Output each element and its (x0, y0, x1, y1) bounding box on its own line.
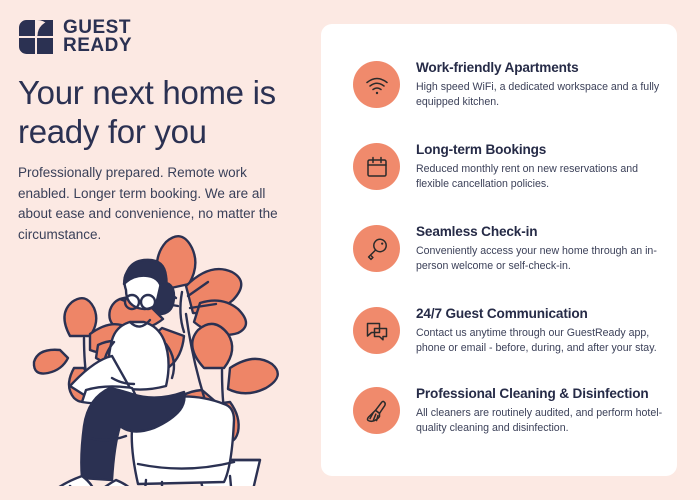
promo-page: GUEST READY Your next home is ready for … (0, 0, 700, 500)
brand-logo[interactable]: GUEST READY (18, 19, 132, 55)
hero-illustration (26, 218, 308, 486)
feature-title: Seamless Check-in (416, 224, 664, 240)
broom-icon (353, 387, 400, 434)
feature-title: Work-friendly Apartments (416, 60, 664, 76)
feature-description: High speed WiFi, a dedicated workspace a… (416, 80, 664, 110)
feature-text: Seamless Check-in Conveniently access yo… (416, 223, 664, 274)
feature-list: Work-friendly Apartments High speed WiFi… (321, 24, 677, 476)
page-title: Your next home is ready for you (18, 74, 308, 152)
features-card: Work-friendly Apartments High speed WiFi… (321, 24, 677, 476)
feature-title: Long-term Bookings (416, 142, 664, 158)
feature-description: Reduced monthly rent on new reservations… (416, 162, 664, 192)
left-panel: GUEST READY Your next home is ready for … (0, 0, 320, 500)
feature-text: 24/7 Guest Communication Contact us anyt… (416, 305, 664, 356)
feature-title: Professional Cleaning & Disinfection (416, 386, 664, 402)
feature-text: Professional Cleaning & Disinfection All… (416, 385, 664, 436)
feature-text: Long-term Bookings Reduced monthly rent … (416, 141, 664, 192)
feature-title: 24/7 Guest Communication (416, 306, 664, 322)
list-item[interactable]: Long-term Bookings Reduced monthly rent … (353, 141, 653, 192)
list-item[interactable]: 24/7 Guest Communication Contact us anyt… (353, 305, 653, 356)
wifi-icon (353, 61, 400, 108)
feature-description: Conveniently access your new home throug… (416, 244, 664, 274)
list-item[interactable]: Professional Cleaning & Disinfection All… (353, 385, 653, 436)
brand-wordmark: GUEST READY (63, 19, 132, 55)
calendar-icon (353, 143, 400, 190)
feature-description: Contact us anytime through our GuestRead… (416, 326, 664, 356)
key-icon (353, 225, 400, 272)
list-item[interactable]: Work-friendly Apartments High speed WiFi… (353, 59, 653, 110)
guestready-quadrant-logo (18, 19, 54, 55)
brand-line-2: READY (63, 37, 132, 55)
feature-description: All cleaners are routinely audited, and … (416, 406, 664, 436)
chat-bubbles-icon (353, 307, 400, 354)
feature-text: Work-friendly Apartments High speed WiFi… (416, 59, 664, 110)
list-item[interactable]: Seamless Check-in Conveniently access yo… (353, 223, 653, 274)
